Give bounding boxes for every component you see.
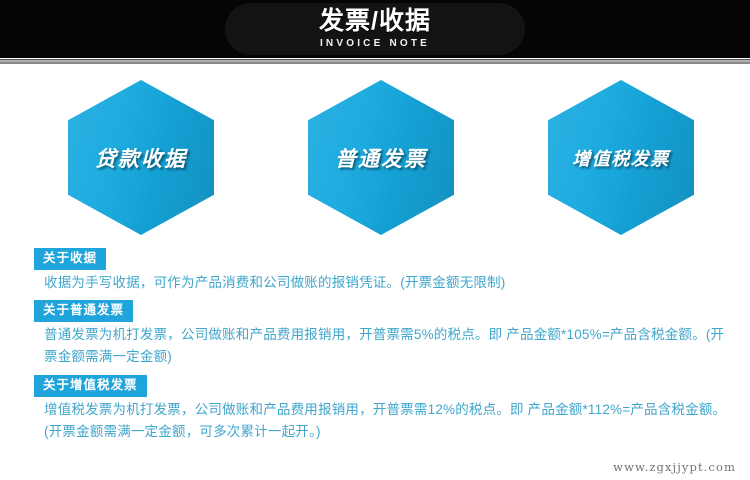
hexagon-card-ordinary-invoice[interactable]: 普通发票 [308, 80, 454, 235]
header-divider [0, 59, 750, 64]
notes-section: 关于收据 收据为手写收据，可作为产品消费和公司做账的报销凭证。(开票金额无限制)… [0, 248, 750, 443]
note-block-vat-invoice: 关于增值税发票 增值税发票为机打发票，公司做账和产品费用报销用，开普票需12%的… [0, 375, 750, 443]
hexagon-card-loan-receipt[interactable]: 贷款收据 [68, 80, 214, 235]
note-badge: 关于收据 [34, 248, 106, 270]
header-bar: 发票/收据 INVOICE NOTE [0, 0, 750, 58]
note-badge: 关于普通发票 [34, 300, 133, 322]
hexagon-card-vat-invoice[interactable]: 增值税发票 [548, 80, 694, 235]
note-body: 收据为手写收据，可作为产品消费和公司做账的报销凭证。(开票金额无限制) [44, 272, 732, 294]
note-badge: 关于增值税发票 [34, 375, 147, 397]
header-title-group: 发票/收据 INVOICE NOTE [0, 0, 750, 58]
note-block-ordinary-invoice: 关于普通发票 普通发票为机打发票，公司做账和产品费用报销用，开普票需5%的税点。… [0, 300, 750, 368]
note-block-receipt: 关于收据 收据为手写收据，可作为产品消费和公司做账的报销凭证。(开票金额无限制) [0, 248, 750, 294]
hexagon-row: 贷款收据 普通发票 增值税发票 [0, 80, 750, 235]
hexagon-label: 普通发票 [294, 80, 468, 235]
note-body: 增值税发票为机打发票，公司做账和产品费用报销用，开普票需12%的税点。即 产品金… [44, 399, 732, 443]
hexagon-label: 增值税发票 [534, 80, 708, 235]
page-title: 发票/收据 [319, 7, 431, 36]
hexagon-label: 贷款收据 [54, 80, 228, 235]
site-watermark: www.zgxjjypt.com [613, 460, 736, 474]
note-body: 普通发票为机打发票，公司做账和产品费用报销用，开普票需5%的税点。即 产品金额*… [44, 324, 732, 368]
page-subtitle: INVOICE NOTE [320, 37, 430, 51]
